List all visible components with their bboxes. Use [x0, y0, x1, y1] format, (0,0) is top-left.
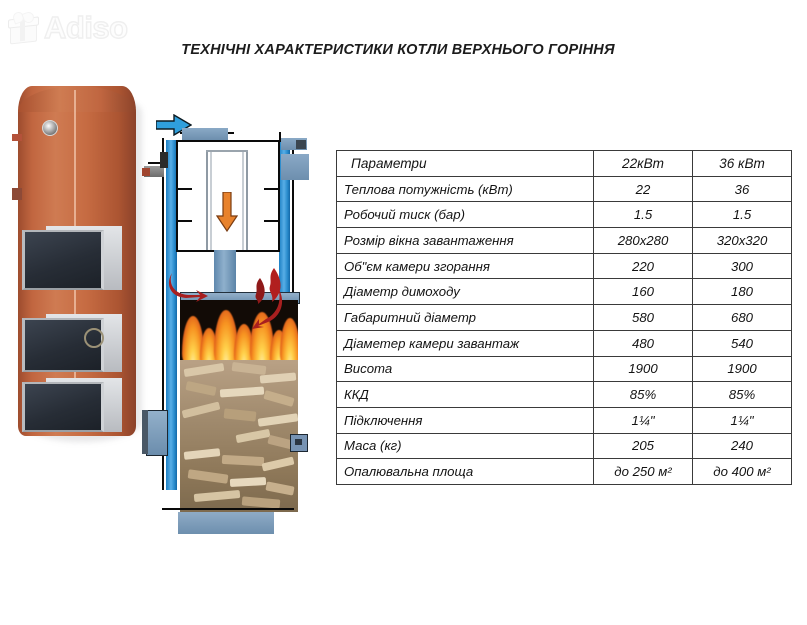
inspection-port-glass	[295, 439, 302, 445]
table-row: Об"єм камери згорання 220 300	[337, 253, 792, 279]
table-row: Підключення 1¼" 1¼"	[337, 407, 792, 433]
value-36kw: 85%	[693, 382, 792, 408]
telescopic-tube-top	[206, 150, 248, 152]
param-label: Підключення	[337, 407, 594, 433]
telescopic-tube-left-inner	[210, 150, 212, 250]
param-label: Висота	[337, 356, 594, 382]
value-22kw: 1¼"	[594, 407, 693, 433]
left-sensor-block	[160, 152, 168, 168]
value-36kw: 36	[693, 176, 792, 202]
top-cover-plate	[182, 128, 228, 140]
param-label: Опалювальна площа	[337, 459, 594, 485]
param-label: Робочий тиск (бар)	[337, 202, 594, 228]
header-parameter: Параметри	[337, 151, 594, 177]
table-row: Маса (кг) 205 240	[337, 433, 792, 459]
value-22kw: 1900	[594, 356, 693, 382]
ash-door-hinge	[142, 410, 148, 454]
table-body: Параметри 22кВт 36 кВт Теплова потужніст…	[337, 151, 792, 485]
chimney-outlet-box	[281, 154, 309, 180]
param-label: Маса (кг)	[337, 433, 594, 459]
baffle-left	[176, 188, 192, 190]
table-row: Опалювальна площа до 250 м² до 400 м²	[337, 459, 792, 485]
param-label: Об"єм камери згорання	[337, 253, 594, 279]
telescopic-tube-right-inner	[242, 150, 244, 250]
value-22kw: 580	[594, 305, 693, 331]
chimney-damper	[296, 140, 306, 149]
value-22kw: 205	[594, 433, 693, 459]
base-outline	[162, 508, 294, 510]
boiler-door-lower	[22, 382, 104, 432]
table-header-row: Параметри 22кВт 36 кВт	[337, 151, 792, 177]
ash-door-left	[146, 410, 168, 456]
param-label: Теплова потужність (кВт)	[337, 176, 594, 202]
value-36kw: 540	[693, 330, 792, 356]
baffle-right-2	[264, 220, 280, 222]
specifications-table: Параметри 22кВт 36 кВт Теплова потужніст…	[336, 150, 792, 485]
telescopic-tube-left	[206, 150, 208, 250]
adiso-watermark-logo: Adiso	[8, 6, 178, 48]
header-36kw: 36 кВт	[693, 151, 792, 177]
left-nozzle-cap	[142, 168, 150, 176]
value-22kw: 280х280	[594, 228, 693, 254]
boiler-side-tab-mid	[12, 188, 22, 200]
boiler-base-plate	[178, 512, 274, 534]
value-36kw: 1.5	[693, 202, 792, 228]
value-36kw: до 400 м²	[693, 459, 792, 485]
value-36kw: 320х320	[693, 228, 792, 254]
air-down-arrow-icon	[216, 192, 238, 232]
value-22kw: 220	[594, 253, 693, 279]
table-row: Розмір вікна завантаження 280х280 320х32…	[337, 228, 792, 254]
boiler-door-upper	[22, 230, 104, 290]
boiler-thermometer-gauge	[42, 120, 58, 136]
table-row: Діаметер камери завантаж 480 540	[337, 330, 792, 356]
value-22kw: 1.5	[594, 202, 693, 228]
param-label: Діаметр димоходу	[337, 279, 594, 305]
value-22kw: 480	[594, 330, 693, 356]
boiler-side-tab-upper	[12, 134, 22, 141]
param-label: Діаметер камери завантаж	[337, 330, 594, 356]
brand-wordmark: Adiso	[44, 12, 128, 43]
flue-gas-swirl-arrow-left-icon	[166, 270, 210, 302]
value-22kw: 160	[594, 279, 693, 305]
chamber-left-outline	[176, 140, 178, 252]
flame-tongue-lower-icon	[250, 278, 268, 304]
telescopic-tube-right	[246, 150, 248, 250]
boiler-photo	[8, 78, 160, 450]
value-22kw: 22	[594, 176, 693, 202]
boiler-door-handle	[84, 328, 104, 348]
value-36kw: 240	[693, 433, 792, 459]
value-22kw: до 250 м²	[594, 459, 693, 485]
chamber-right-outline	[278, 140, 280, 252]
page-title: ТЕХНІЧНІ ХАРАКТЕРИСТИКИ КОТЛИ ВЕРХНЬОГО …	[168, 42, 628, 58]
param-label: Габаритний діаметр	[337, 305, 594, 331]
value-36kw: 1¼"	[693, 407, 792, 433]
table-row: ККД 85% 85%	[337, 382, 792, 408]
baffle-left-2	[176, 220, 192, 222]
table-row: Габаритний діаметр 580 680	[337, 305, 792, 331]
gift-box-icon	[8, 12, 38, 42]
table-row: Висота 1900 1900	[337, 356, 792, 382]
chamber-top-outline	[176, 140, 280, 142]
baffle-right	[264, 188, 280, 190]
table-row: Робочий тиск (бар) 1.5 1.5	[337, 202, 792, 228]
header-22kw: 22кВт	[594, 151, 693, 177]
boiler-cutaway-diagram	[150, 110, 330, 492]
param-label: ККД	[337, 382, 594, 408]
value-22kw: 85%	[594, 382, 693, 408]
value-36kw: 1900	[693, 356, 792, 382]
table-row: Діаметр димоходу 160 180	[337, 279, 792, 305]
value-36kw: 680	[693, 305, 792, 331]
value-36kw: 180	[693, 279, 792, 305]
value-36kw: 300	[693, 253, 792, 279]
wood-fuel-load	[180, 360, 298, 512]
param-label: Розмір вікна завантаження	[337, 228, 594, 254]
table-row: Теплова потужність (кВт) 22 36	[337, 176, 792, 202]
